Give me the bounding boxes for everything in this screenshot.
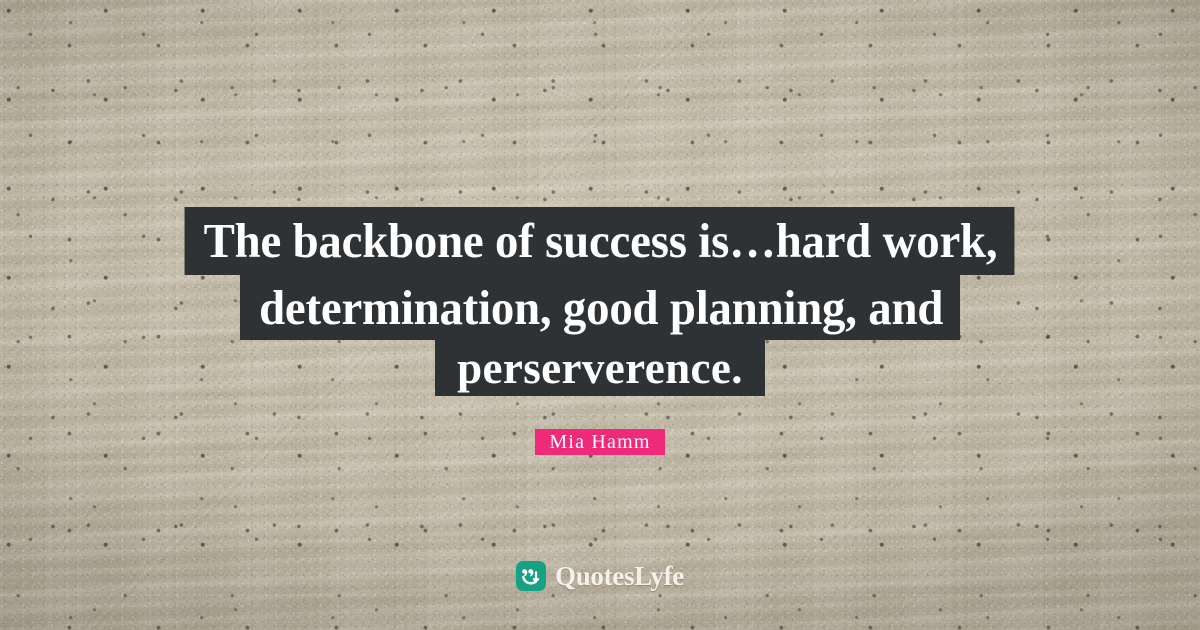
author-name-badge: Mia Hamm bbox=[535, 429, 664, 455]
brand-wordmark: QuotesLyfe bbox=[555, 561, 684, 591]
quote-card: The backbone of success is…hard work, de… bbox=[0, 0, 1200, 630]
author-badge-wrapper: Mia Hamm bbox=[0, 429, 1200, 455]
quote-smiley-icon bbox=[516, 561, 546, 591]
quote-line-2: determination, good planning, and bbox=[240, 275, 960, 340]
quote-line-3: perserverence. bbox=[435, 340, 765, 396]
quote-line-1: The backbone of success is…hard work, bbox=[185, 207, 1015, 275]
brand-logo[interactable]: QuotesLyfe bbox=[0, 561, 1200, 591]
quote-text-block: The backbone of success is…hard work, de… bbox=[0, 207, 1200, 396]
